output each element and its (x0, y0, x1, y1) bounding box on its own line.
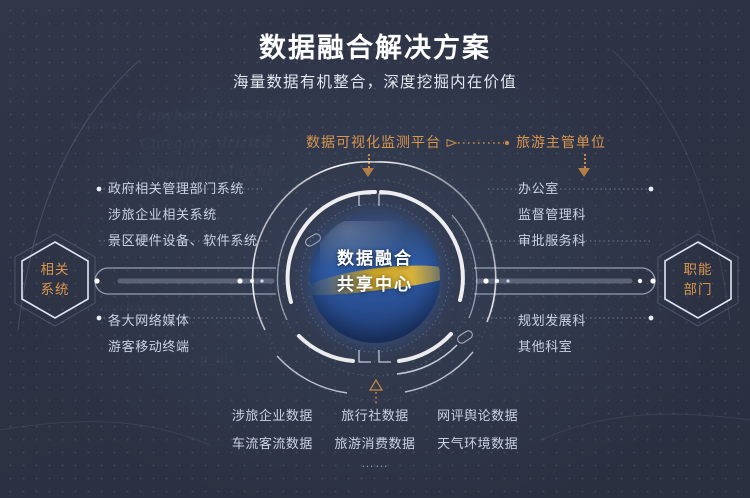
data-item[interactable]: 旅游消费数据 (328, 433, 423, 452)
hexagon-label: 职能 部门 (655, 232, 741, 328)
list-related-systems-bottom: 各大网络媒体 游客移动终端 (108, 307, 190, 359)
watermark-text: p_id (200, 352, 228, 368)
list-departments-bottom: 规划发展科 其他科室 (518, 307, 586, 359)
list-related-systems-top: 政府相关管理部门系统 涉旅企业相关系统 景区硬件设备、软件系统 (108, 175, 258, 253)
infographic-canvas: Capybara: javascript Category: deleted S… (0, 0, 750, 498)
list-item[interactable]: 办公室 (518, 175, 586, 201)
data-item[interactable]: 旅行社数据 (328, 405, 423, 424)
data-item[interactable]: 车流客流数据 (225, 433, 320, 452)
chevron-down-icon (578, 154, 592, 177)
label-tourism-authority[interactable]: 旅游主管单位 (516, 132, 606, 152)
label-visualization-platform[interactable]: 数据可视化监测平台 (306, 132, 441, 152)
data-fusion-hub: 数据融合 共享中心 (247, 150, 503, 406)
hexagon-label-line1: 职能 (684, 260, 713, 280)
list-item[interactable]: 景区硬件设备、软件系统 (108, 227, 258, 253)
connector-arrow-left (446, 139, 510, 147)
page-subtitle: 海量数据有机整合，深度挖掘内在价值 (0, 70, 750, 92)
list-item[interactable]: 各大网络媒体 (108, 307, 190, 333)
hexagon-label-line1: 相关 (41, 260, 70, 280)
watermark-text: Capybara: javascript (136, 103, 292, 126)
triangle-up-icon (368, 378, 384, 408)
hexagon-label-line2: 部门 (684, 280, 713, 300)
data-item[interactable]: 天气环境数据 (430, 433, 525, 452)
hexagon-label: 相关 系统 (12, 232, 98, 328)
hexagon-functional-departments[interactable]: 职能 部门 (655, 232, 741, 328)
watermark-text: requires (70, 118, 123, 134)
page-title: 数据融合解决方案 (0, 26, 750, 65)
hub-wave-band (310, 258, 440, 299)
list-item[interactable]: 规划发展科 (518, 307, 586, 333)
list-item[interactable]: 涉旅企业相关系统 (108, 201, 258, 227)
list-item[interactable]: 监督管理科 (518, 201, 586, 227)
list-item[interactable]: 审批服务科 (518, 227, 586, 253)
list-item[interactable]: 游客移动终端 (108, 333, 190, 359)
hexagon-label-line2: 系统 (41, 280, 70, 300)
list-item[interactable]: 政府相关管理部门系统 (108, 175, 258, 201)
list-item[interactable]: 其他科室 (518, 333, 586, 359)
hexagon-related-systems[interactable]: 相关 系统 (12, 232, 98, 328)
data-item[interactable]: 网评舆论数据 (430, 405, 525, 424)
data-item[interactable]: 涉旅企业数据 (225, 405, 320, 424)
ellipsis-marker: …… (0, 455, 750, 470)
hub-sphere-highlight (320, 221, 411, 273)
hub-sphere (310, 213, 440, 343)
bottom-data-grid: 涉旅企业数据 旅行社数据 网评舆论数据 车流客流数据 旅游消费数据 天气环境数据 (225, 405, 525, 452)
list-departments-top: 办公室 监督管理科 审批服务科 (518, 175, 586, 253)
